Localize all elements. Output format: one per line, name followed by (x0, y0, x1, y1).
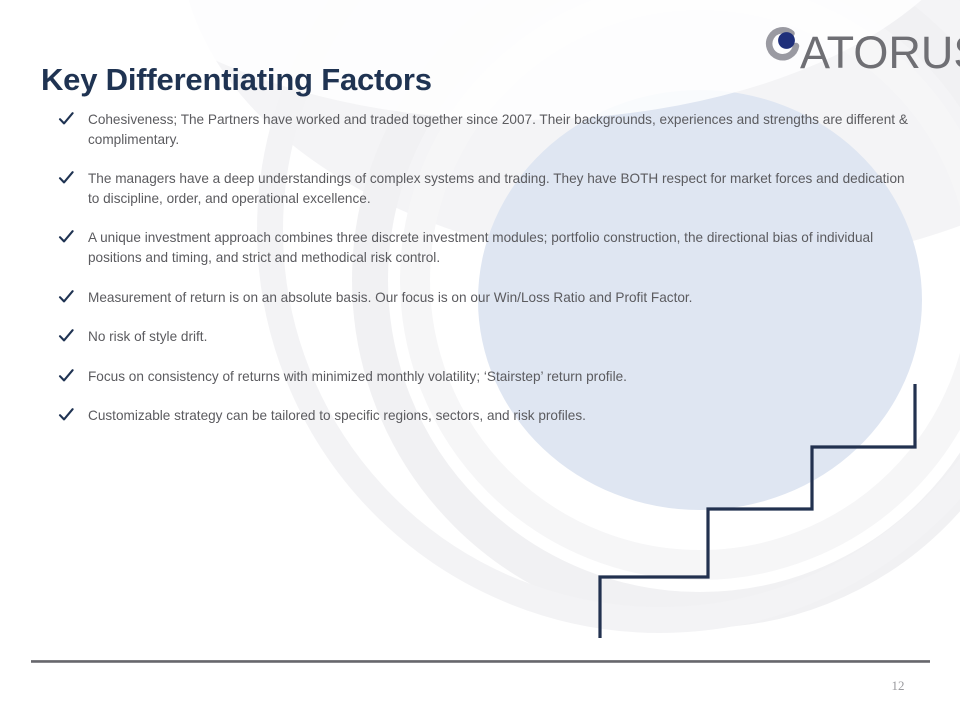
list-item-text: The managers have a deep understandings … (80, 169, 918, 208)
list-item: No risk of style drift. (58, 327, 918, 347)
check-icon (58, 110, 80, 127)
list-item: Measurement of return is on an absolute … (58, 288, 918, 308)
list-item-text: Customizable strategy can be tailored to… (80, 406, 918, 426)
list-item-text: Cohesiveness; The Partners have worked a… (80, 110, 918, 149)
list-item-text: A unique investment approach combines th… (80, 228, 918, 267)
logo-mark-svg (762, 26, 804, 68)
list-item-text: Measurement of return is on an absolute … (80, 288, 918, 308)
list-item-text: No risk of style drift. (80, 327, 918, 347)
check-icon (58, 288, 80, 305)
check-icon (58, 169, 80, 186)
page-title: Key Differentiating Factors (41, 62, 432, 98)
list-item: Cohesiveness; The Partners have worked a… (58, 110, 918, 149)
ring-dot-shape (778, 32, 795, 49)
list-item: Focus on consistency of returns with min… (58, 367, 918, 387)
check-icon (58, 327, 80, 344)
check-icon (58, 228, 80, 245)
page-number: 12 (880, 678, 916, 694)
brand-logo: ATORUS (762, 22, 960, 78)
logo-ring-icon (762, 26, 804, 68)
list-item: The managers have a deep understandings … (58, 169, 918, 208)
check-icon (58, 406, 80, 423)
slide: ATORUS Key Differentiating Factors Cohes… (0, 0, 960, 720)
bullet-list: Cohesiveness; The Partners have worked a… (58, 110, 918, 446)
list-item: Customizable strategy can be tailored to… (58, 406, 918, 426)
list-item-text: Focus on consistency of returns with min… (80, 367, 918, 387)
check-icon (58, 367, 80, 384)
list-item: A unique investment approach combines th… (58, 228, 918, 267)
logo-wordmark: ATORUS (800, 30, 960, 75)
footer-divider (31, 660, 930, 663)
